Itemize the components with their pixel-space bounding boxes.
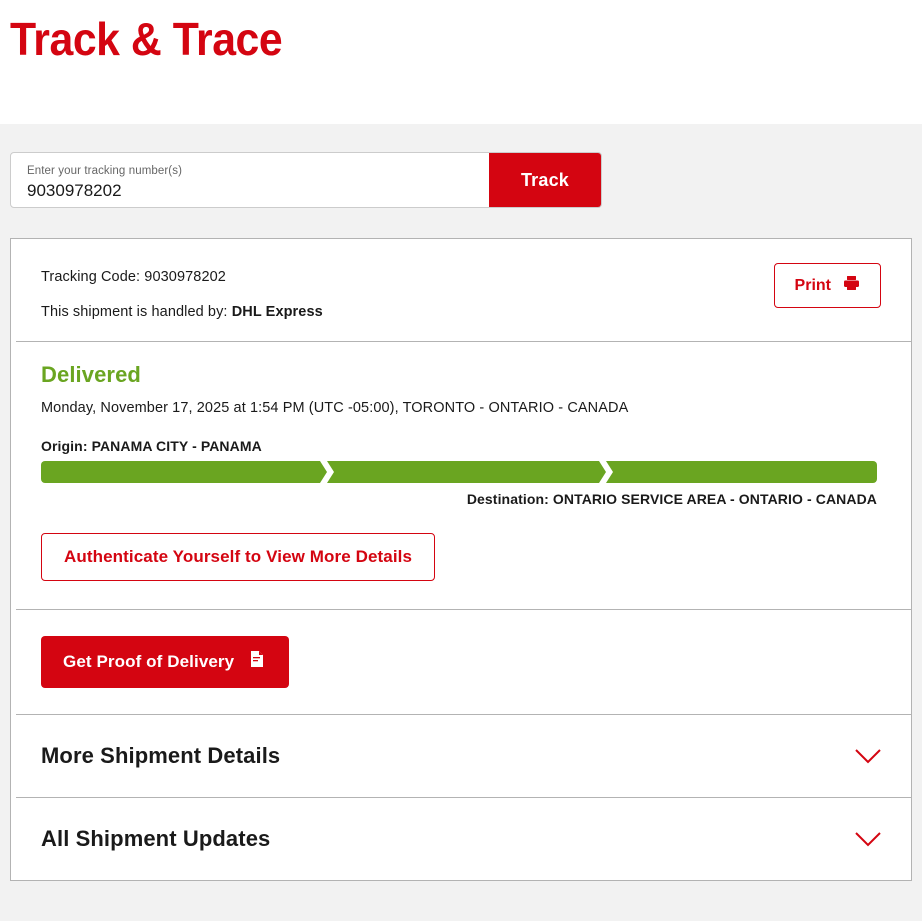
shipment-meta: Tracking Code: 9030978202 This shipment …	[41, 263, 323, 321]
page-header: Track & Trace	[0, 0, 922, 124]
shipment-result-card: Tracking Code: 9030978202 This shipment …	[10, 238, 912, 881]
accordion-title: All Shipment Updates	[41, 826, 270, 852]
tracking-input-label: Enter your tracking number(s)	[27, 164, 489, 178]
tracking-search-box[interactable]: Enter your tracking number(s) Track	[10, 152, 602, 208]
track-button[interactable]: Track	[489, 153, 601, 207]
status-badge: Delivered	[41, 362, 881, 388]
carrier-name: DHL Express	[232, 304, 323, 320]
get-proof-of-delivery-button[interactable]: Get Proof of Delivery	[41, 636, 289, 688]
page-title: Track & Trace	[10, 0, 282, 65]
print-button[interactable]: Print	[774, 263, 881, 308]
tracking-search-area: Enter your tracking number(s) Track	[10, 124, 602, 208]
shipment-status-section: Delivered Monday, November 17, 2025 at 1…	[11, 342, 911, 591]
printer-icon	[843, 275, 860, 296]
pod-button-label: Get Proof of Delivery	[63, 652, 234, 672]
proof-of-delivery-section: Get Proof of Delivery	[11, 610, 911, 714]
tracking-code-line: Tracking Code: 9030978202	[41, 268, 323, 286]
accordion-more-shipment-details[interactable]: More Shipment Details	[11, 715, 911, 797]
origin-label: Origin: PANAMA CITY - PANAMA	[41, 438, 881, 454]
shipment-summary-section: Tracking Code: 9030978202 This shipment …	[11, 239, 911, 341]
progress-fill	[41, 461, 877, 483]
chevron-down-icon[interactable]	[855, 832, 881, 847]
page-body: Enter your tracking number(s) Track Trac…	[0, 124, 922, 921]
document-signature-icon	[248, 650, 267, 674]
tracking-number-input[interactable]	[27, 179, 489, 203]
progress-bar	[41, 461, 877, 483]
accordion-all-shipment-updates[interactable]: All Shipment Updates	[11, 798, 911, 880]
shipment-progress: Origin: PANAMA CITY - PANAMA Destination…	[41, 438, 881, 507]
authenticate-button[interactable]: Authenticate Yourself to View More Detai…	[41, 533, 435, 581]
tracking-input-wrapper[interactable]: Enter your tracking number(s)	[11, 153, 489, 207]
handled-by-line: This shipment is handled by: DHL Express	[41, 303, 323, 321]
accordion-title: More Shipment Details	[41, 743, 280, 769]
chevron-down-icon[interactable]	[855, 749, 881, 764]
destination-label: Destination: ONTARIO SERVICE AREA - ONTA…	[41, 491, 877, 507]
print-button-label: Print	[795, 277, 831, 295]
status-detail-text: Monday, November 17, 2025 at 1:54 PM (UT…	[41, 400, 881, 416]
handled-by-prefix: This shipment is handled by:	[41, 304, 232, 320]
